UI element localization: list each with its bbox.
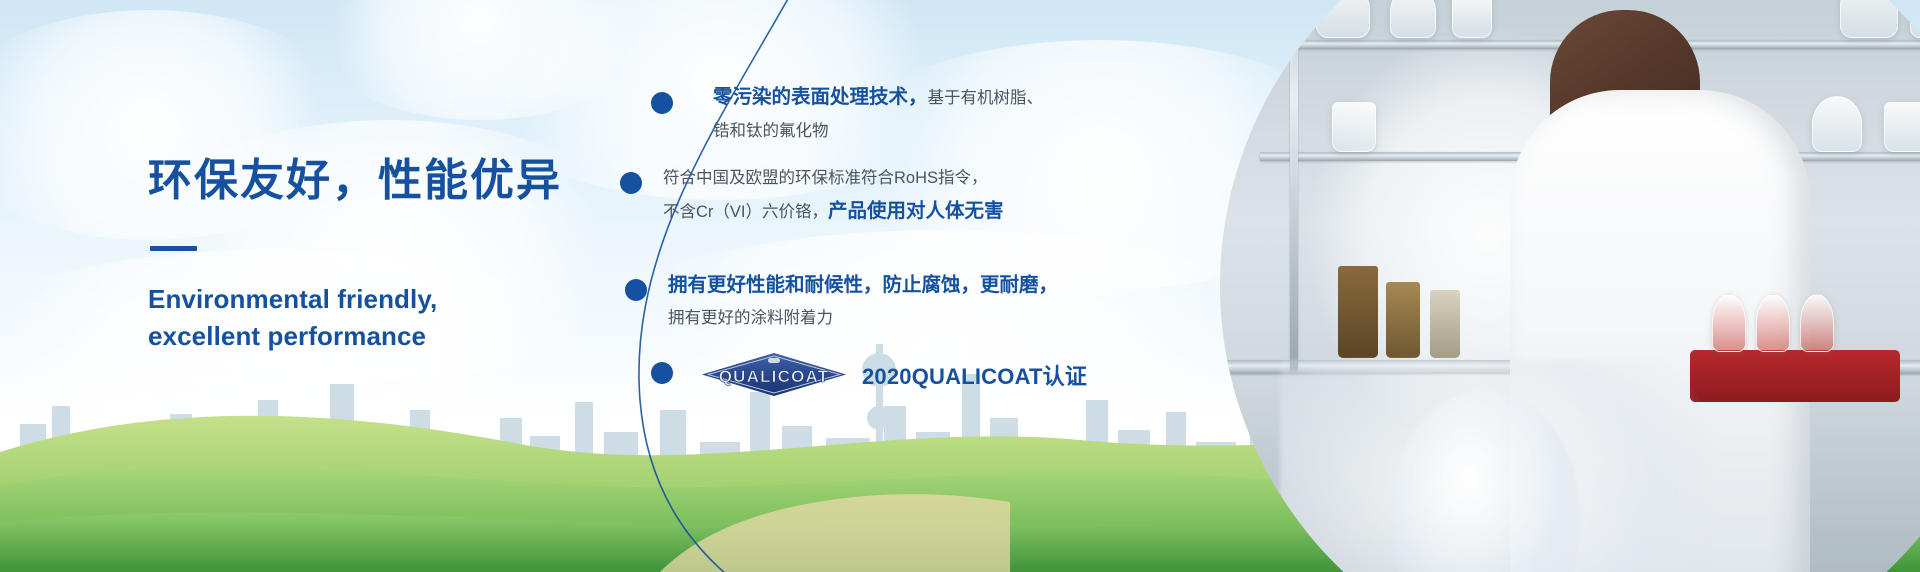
feature-strong-text: 产品使用对人体无害 bbox=[828, 200, 1004, 222]
feature-normal-text: 符合中国及欧盟的环保标准符合RoHS指令， bbox=[663, 169, 988, 187]
certification-label: 2020QUALICOAT认证 bbox=[862, 359, 1087, 391]
feature-normal-text: 拥有更好的涂料附着力 bbox=[668, 309, 833, 327]
sample-rack bbox=[1690, 350, 1900, 402]
qualicoat-logo-text: QUALICOAT bbox=[719, 367, 830, 386]
feature-item-rohs-line2: 不含Cr（VI）六价铬，产品使用对人体无害 bbox=[663, 202, 1004, 222]
feature-normal-text: 不含Cr（VI）六价铬， bbox=[663, 203, 828, 221]
bullet-dot-icon bbox=[625, 279, 647, 301]
feature-item-zero-pollution-line2: 锆和钛的氟化物 bbox=[713, 123, 829, 140]
lab-photo bbox=[1220, 0, 1920, 572]
qualicoat-logo-icon: QUALICOAT bbox=[700, 352, 848, 397]
feature-strong-text: 零污染的表面处理技术， bbox=[713, 86, 928, 108]
lab-photo-container bbox=[1110, 0, 1920, 572]
bullet-dot-icon bbox=[651, 362, 673, 384]
certification-row: QUALICOAT 2020QUALICOAT认证 bbox=[700, 352, 1087, 397]
feature-item-zero-pollution-line1: 零污染的表面处理技术，基于有机树脂、 bbox=[713, 88, 1043, 108]
feature-normal-text: 锆和钛的氟化物 bbox=[713, 122, 829, 140]
feature-item-performance-line1: 拥有更好性能和耐候性，防止腐蚀，更耐磨， bbox=[668, 276, 1058, 296]
bullet-dot-icon bbox=[651, 92, 673, 114]
feature-item-rohs-line1: 符合中国及欧盟的环保标准符合RoHS指令， bbox=[663, 170, 988, 187]
feature-normal-text: 基于有机树脂、 bbox=[928, 89, 1044, 107]
lab-photo-circle bbox=[1220, 0, 1920, 572]
feature-list: 零污染的表面处理技术，基于有机树脂、 锆和钛的氟化物 符合中国及欧盟的环保标准符… bbox=[0, 0, 1200, 572]
bullet-dot-icon bbox=[620, 172, 642, 194]
feature-strong-text: 拥有更好性能和耐候性，防止腐蚀，更耐磨， bbox=[668, 274, 1058, 296]
product-feature-banner: 环保友好，性能优异 Environmental friendly, excell… bbox=[0, 0, 1920, 572]
feature-item-performance-line2: 拥有更好的涂料附着力 bbox=[668, 310, 833, 327]
